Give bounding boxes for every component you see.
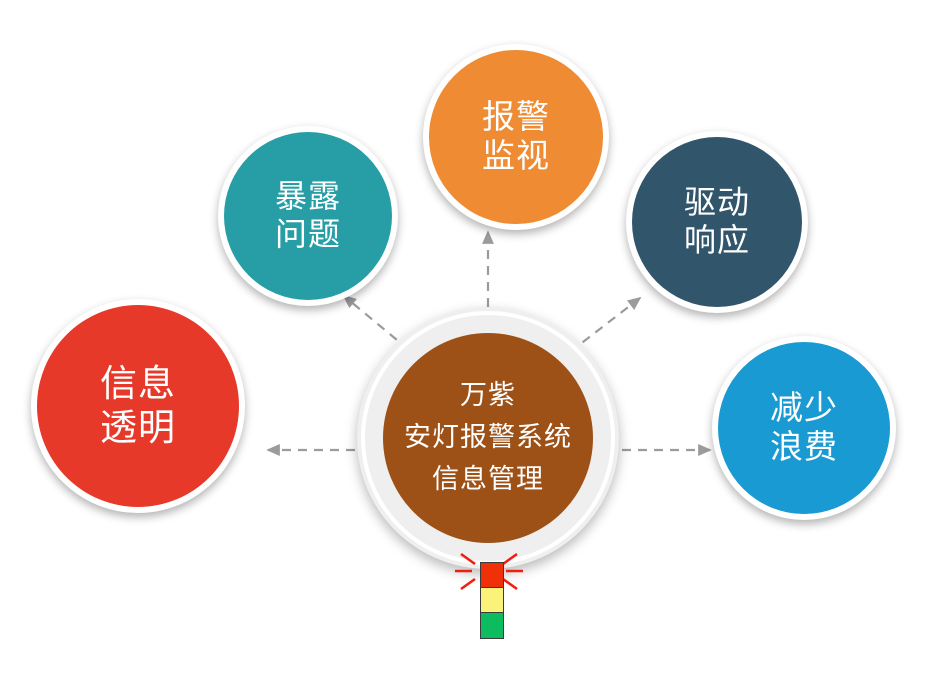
drive-response-line-1: 驱动 (684, 184, 750, 222)
reduce-waste-line-1: 减少 (770, 389, 838, 428)
andon-lamp-red-icon (481, 563, 503, 588)
andon-lamp-green-icon (481, 613, 503, 638)
information-transparency-line-1: 信息 (100, 362, 176, 406)
andon-light-tower-icon (453, 548, 525, 646)
node-drive-response[interactable]: 驱动 响应 (632, 137, 802, 307)
information-transparency-line-2: 透明 (100, 406, 176, 450)
center-hub[interactable]: 万紫 安灯报警系统 信息管理 (383, 333, 593, 543)
node-reduce-waste[interactable]: 减少 浪费 (718, 342, 890, 514)
diagram-canvas: 万紫 安灯报警系统 信息管理 暴露 问题 报警 监视 驱动 响应 信息 透明 减… (0, 0, 939, 680)
center-hub-line-2: 安灯报警系统 (404, 422, 572, 454)
node-alarm-monitoring[interactable]: 报警 监视 (429, 50, 603, 224)
expose-problems-line-1: 暴露 (275, 178, 341, 216)
connector-to-drive-response (570, 298, 640, 352)
expose-problems-line-2: 问题 (275, 216, 341, 254)
drive-response-line-2: 响应 (684, 222, 750, 260)
andon-lamp-yellow-icon (481, 588, 503, 613)
alarm-monitoring-line-1: 报警 (482, 98, 550, 137)
alarm-monitoring-line-2: 监视 (482, 137, 550, 176)
andon-lamp-stack (480, 562, 504, 639)
node-expose-problems[interactable]: 暴露 问题 (224, 132, 392, 300)
node-information-transparency[interactable]: 信息 透明 (37, 305, 239, 507)
reduce-waste-line-2: 浪费 (770, 428, 838, 467)
center-hub-line-3: 信息管理 (432, 464, 544, 496)
center-hub-line-1: 万紫 (460, 380, 516, 412)
